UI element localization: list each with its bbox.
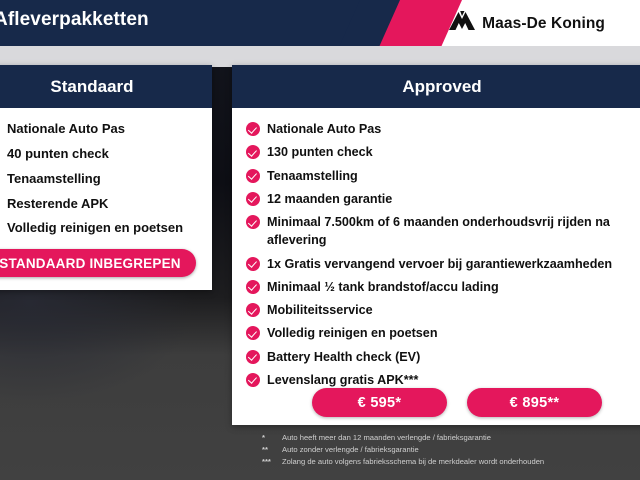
footnote-mark: * [262,432,276,444]
price-button-595[interactable]: € 595* [312,388,447,417]
list-item: Volledig reinigen en poetsen [0,219,198,238]
list-item: Levenslang gratis APK*** [246,371,638,389]
list-item: Battery Health check (EV) [246,348,638,366]
list-item: Nationale Auto Pas [246,120,638,138]
maas-de-koning-m-mark-icon [449,11,475,36]
footnote-triple-asterisk: *** Zolang de auto volgens fabrieksschem… [262,456,640,468]
approved-feature-list: Nationale Auto Pas 130 punten check Tena… [246,120,638,389]
feature-text: Tenaamstelling [267,167,358,185]
check-circle-icon [246,303,260,317]
footnote-text: Auto heeft meer dan 12 maanden verlengde… [282,432,491,444]
feature-text: Mobiliteitsservice [267,301,373,319]
list-item: Nationale Auto Pas [0,120,198,139]
list-item: 12 maanden garantie [246,190,638,208]
background-gray-band [0,45,640,67]
feature-text: 40 punten check [7,145,109,164]
feature-text: Minimaal ½ tank brandstof/accu lading [267,278,499,296]
feature-text: 130 punten check [267,143,373,161]
feature-text: Resterende APK [7,195,108,214]
check-circle-icon [246,215,260,229]
feature-text: Tenaamstelling [7,170,101,189]
footnote-double-asterisk: ** Auto zonder verlengde / fabrieksgaran… [262,444,640,456]
card-standaard-body: Nationale Auto Pas 40 punten check Tenaa… [0,108,212,254]
list-item: Minimaal ½ tank brandstof/accu lading [246,278,638,296]
check-circle-icon [246,280,260,294]
feature-text: Volledig reinigen en poetsen [267,324,438,342]
check-circle-icon [246,145,260,159]
page-header: Afleverpakketten Maas-De Koning [0,0,640,46]
check-circle-icon [246,192,260,206]
feature-text: Battery Health check (EV) [267,348,420,366]
card-approved: Approved Nationale Auto Pas 130 punten c… [232,65,640,425]
feature-text: Nationale Auto Pas [7,120,125,139]
check-circle-icon [246,169,260,183]
footnote-single-asterisk: * Auto heeft meer dan 12 maanden verleng… [262,432,640,444]
footnotes: * Auto heeft meer dan 12 maanden verleng… [262,432,640,467]
page-title: Afleverpakketten [0,9,149,31]
brand-name: Maas-De Koning [482,15,605,33]
price-button-row: € 595* € 895** [232,388,640,417]
list-item: Mobiliteitsservice [246,301,638,319]
check-circle-icon [246,326,260,340]
footnote-mark: ** [262,444,276,456]
footnote-text: Zolang de auto volgens fabrieksschema bi… [282,456,544,468]
feature-text: Nationale Auto Pas [267,120,381,138]
footnote-text: Auto zonder verlengde / fabrieksgarantie [282,444,419,456]
afleverpakketten-page: Afleverpakketten Maas-De Koning Standaar… [0,0,640,480]
feature-text: 12 maanden garantie [267,190,392,208]
standaard-feature-list: Nationale Auto Pas 40 punten check Tenaa… [0,120,198,238]
check-circle-icon [246,122,260,136]
check-circle-icon [246,257,260,271]
list-item: Volledig reinigen en poetsen [246,324,638,342]
price-button-895[interactable]: € 895** [467,388,602,417]
brand-logo: Maas-De Koning [449,11,605,36]
feature-text: Minimaal 7.500km of 6 maanden onderhouds… [267,213,638,250]
standaard-inbegrepen-badge: STANDAARD INBEGREPEN [0,249,196,277]
check-circle-icon [246,373,260,387]
footnote-mark: *** [262,456,276,468]
feature-text: 1x Gratis vervangend vervoer bij garanti… [267,255,612,273]
list-item: Tenaamstelling [246,167,638,185]
card-approved-heading: Approved [232,65,640,108]
check-circle-icon [246,350,260,364]
list-item: 1x Gratis vervangend vervoer bij garanti… [246,255,638,273]
list-item: Resterende APK [0,195,198,214]
feature-text: Volledig reinigen en poetsen [7,219,183,238]
card-approved-body: Nationale Auto Pas 130 punten check Tena… [232,108,640,404]
list-item: 130 punten check [246,143,638,161]
list-item: 40 punten check [0,145,198,164]
list-item: Minimaal 7.500km of 6 maanden onderhouds… [246,213,638,250]
list-item: Tenaamstelling [0,170,198,189]
card-standaard-heading: Standaard [0,65,212,108]
feature-text: Levenslang gratis APK*** [267,371,418,389]
